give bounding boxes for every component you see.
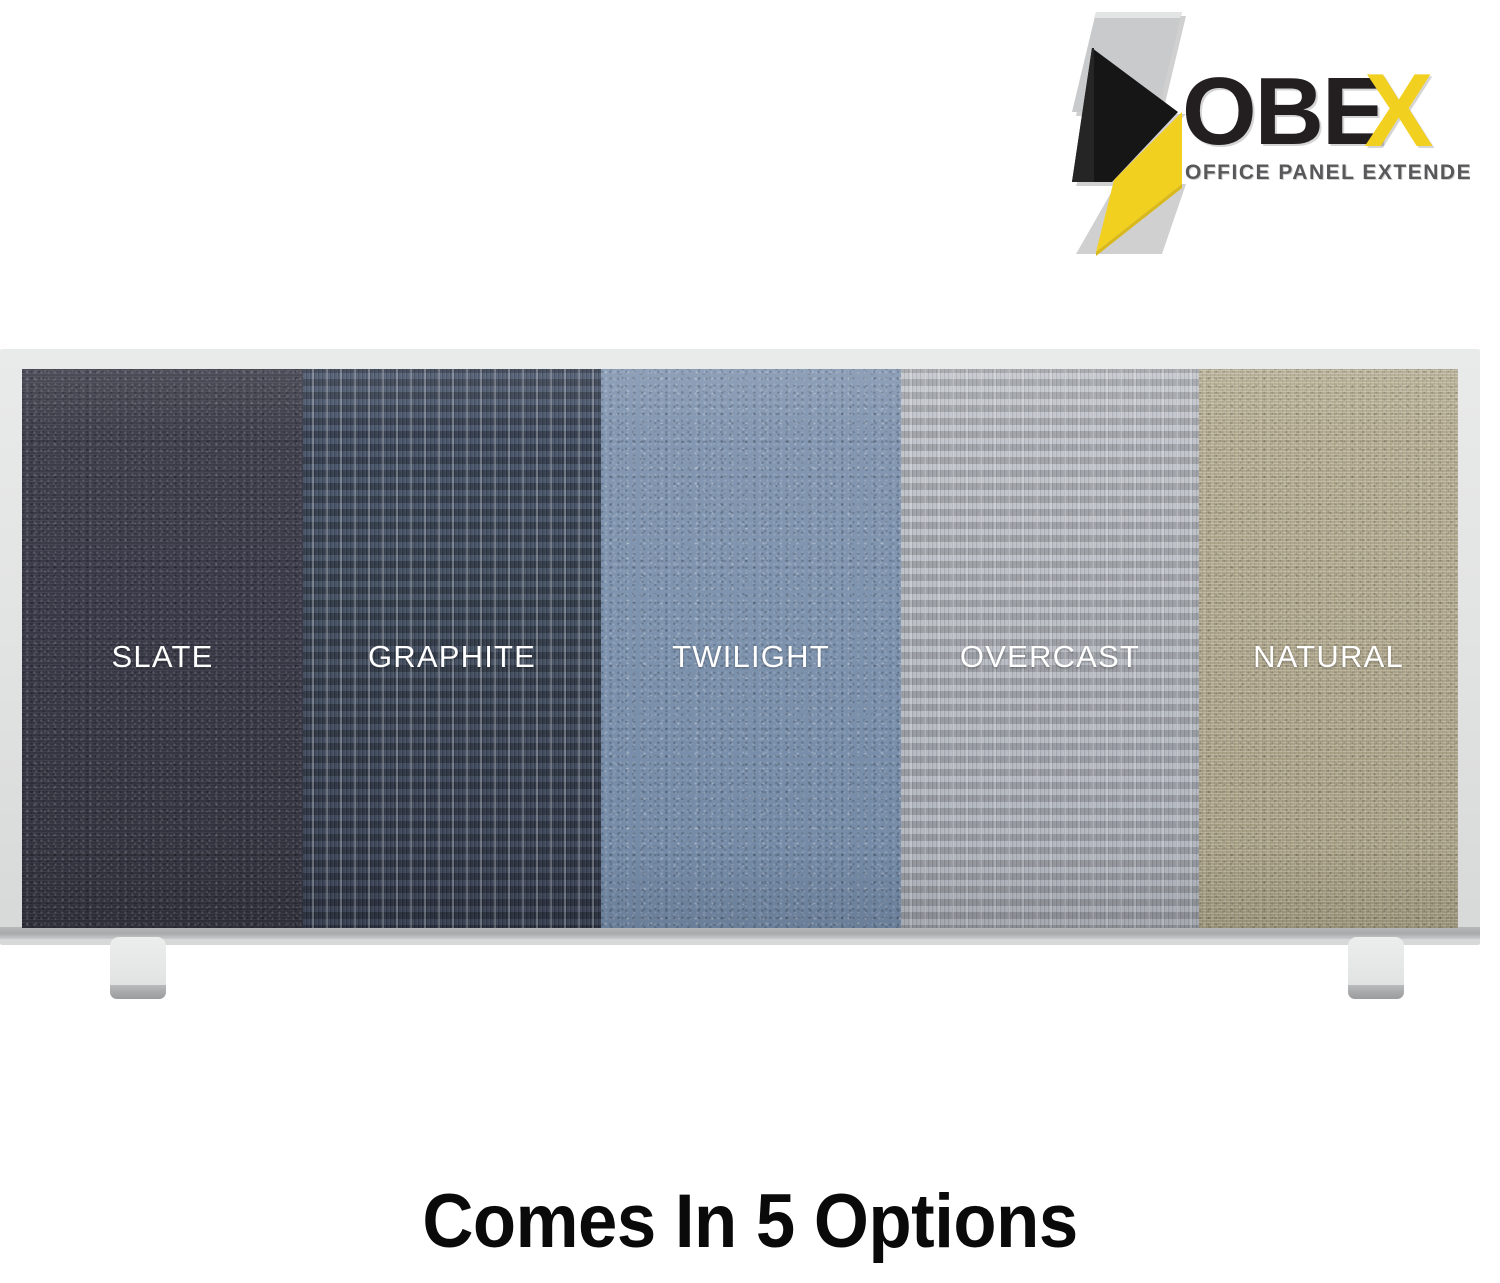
obex-logo: OBE OBE X X OFFICE PANEL EXTENDERS OFFIC… — [1070, 8, 1470, 258]
swatch-label-twilight: TWILIGHT — [672, 639, 830, 675]
svg-text:OFFICE PANEL EXTENDERS: OFFICE PANEL EXTENDERS — [1185, 161, 1470, 184]
swatch-label-slate: SLATE — [112, 639, 214, 675]
swatch-natural[interactable]: NATURAL — [1199, 369, 1458, 928]
swatch-graphite[interactable]: GRAPHITE — [303, 369, 601, 928]
swatch-slate[interactable]: SLATE — [22, 369, 303, 928]
swatch-label-natural: NATURAL — [1253, 639, 1404, 675]
panel-foot-left — [110, 937, 166, 999]
panel-extender-assembly: SLATE GRAPHITE TWILIGHT — [0, 349, 1480, 999]
product-image-canvas: OBE OBE X X OFFICE PANEL EXTENDERS OFFIC… — [0, 0, 1500, 1283]
svg-text:X: X — [1364, 62, 1433, 169]
swatch-overcast[interactable]: OVERCAST — [901, 369, 1199, 928]
frame-bottom-rail — [0, 927, 1480, 939]
swatch-label-overcast: OVERCAST — [960, 639, 1140, 675]
swatch-label-graphite: GRAPHITE — [368, 639, 536, 675]
panel-frame: SLATE GRAPHITE TWILIGHT — [0, 349, 1480, 945]
caption-comes-in-5-options: Comes In 5 Options — [53, 1178, 1448, 1265]
obex-wordmark: OBE OBE X X OFFICE PANEL EXTENDERS OFFIC… — [1180, 62, 1470, 202]
obex-parallelogram-logo-mark-icon — [1070, 8, 1190, 258]
panel-foot-right — [1348, 937, 1404, 999]
fabric-swatch-strip: SLATE GRAPHITE TWILIGHT — [22, 369, 1458, 928]
svg-text:OBE: OBE — [1182, 62, 1384, 165]
swatch-twilight[interactable]: TWILIGHT — [601, 369, 901, 928]
